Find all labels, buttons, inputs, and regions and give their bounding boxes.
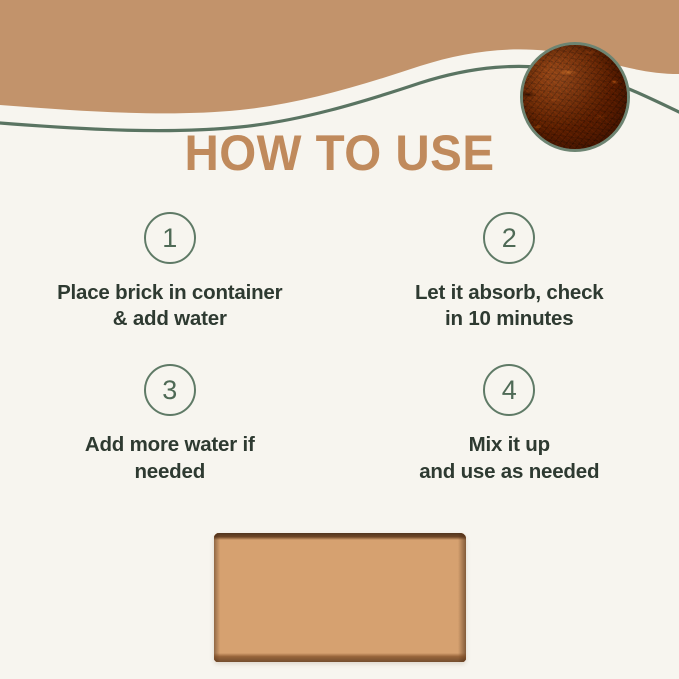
step-3: 3 Add more water if needed [0, 364, 340, 484]
brick-right-edge [458, 533, 466, 662]
brick-bottom-edge [214, 653, 466, 662]
step-1-number: 1 [162, 225, 177, 252]
coir-brick-photo [214, 533, 466, 662]
step-4: 4 Mix it up and use as needed [340, 364, 679, 484]
brick-texture [214, 533, 466, 662]
brick-left-edge [214, 533, 220, 662]
step-3-number: 3 [162, 377, 177, 404]
step-4-badge: 4 [483, 364, 535, 416]
brick-top-edge [214, 533, 466, 540]
step-1-badge: 1 [144, 212, 196, 264]
steps-grid: 1 Place brick in container & add water 2… [0, 212, 679, 485]
page-title: HOW TO USE [17, 128, 662, 178]
step-1-text: Place brick in container & add water [57, 280, 282, 332]
step-2: 2 Let it absorb, check in 10 minutes [340, 212, 679, 332]
step-2-number: 2 [502, 225, 517, 252]
step-4-number: 4 [502, 377, 517, 404]
how-to-use-infographic: HOW TO USE 1 Place brick in container & … [0, 0, 679, 679]
step-2-text: Let it absorb, check in 10 minutes [415, 280, 604, 332]
step-3-text: Add more water if needed [85, 432, 255, 484]
step-1: 1 Place brick in container & add water [0, 212, 340, 332]
step-3-badge: 3 [144, 364, 196, 416]
step-2-badge: 2 [483, 212, 535, 264]
step-4-text: Mix it up and use as needed [419, 432, 599, 484]
